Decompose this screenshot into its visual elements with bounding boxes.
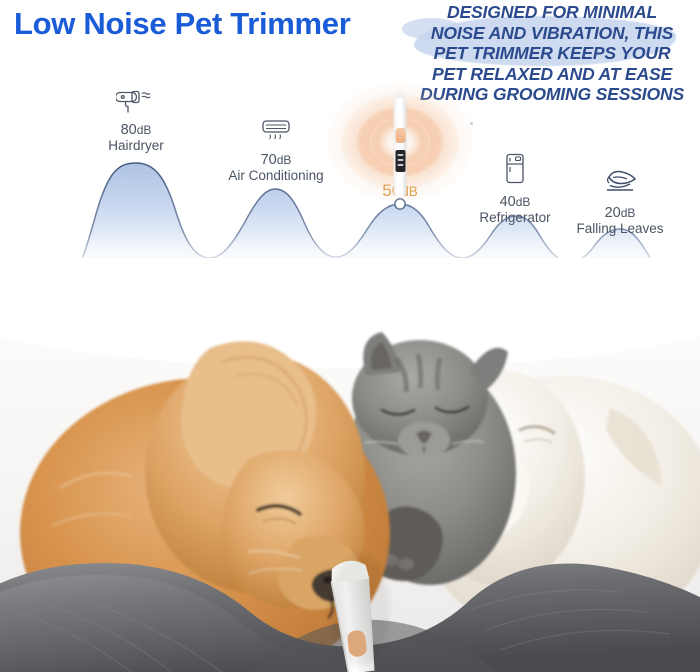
pets-photo	[0, 258, 700, 672]
trimmer-accent-panel	[395, 128, 405, 143]
noise-label-hairdryer: Hairdryer	[76, 138, 196, 154]
air-conditioner-icon	[212, 118, 340, 149]
noise-label-air-conditioning: Air Conditioning	[212, 168, 340, 184]
noise-point-falling-leaves: 20dB Falling Leaves	[556, 167, 684, 237]
falling-leaves-icon	[556, 167, 684, 202]
noise-value-air-conditioning: 70dB	[212, 152, 340, 168]
noise-label-falling-leaves: Falling Leaves	[556, 221, 684, 237]
pet-trimmer-icon	[392, 84, 409, 196]
noise-value-hairdryer: 80dB	[76, 122, 196, 138]
noise-point-air-conditioning: 70dB Air Conditioning	[212, 118, 340, 184]
pet-trimmer-product	[330, 82, 470, 202]
noise-point-hairdryer: 80dB Hairdryer	[76, 88, 196, 154]
noise-level-chart: 80dB Hairdryer 70dB Air Conditioning 50d…	[0, 0, 700, 300]
noise-value-falling-leaves: 20dB	[556, 205, 684, 221]
dot-artifact	[470, 122, 473, 125]
pets-photo-image	[0, 258, 700, 672]
trimmer-body	[394, 98, 407, 196]
product-infographic: Low Noise Pet Trimmer DESIGNED FOR MINIM…	[0, 0, 700, 672]
trimmer-display	[395, 150, 405, 172]
hairdryer-icon	[76, 88, 196, 119]
